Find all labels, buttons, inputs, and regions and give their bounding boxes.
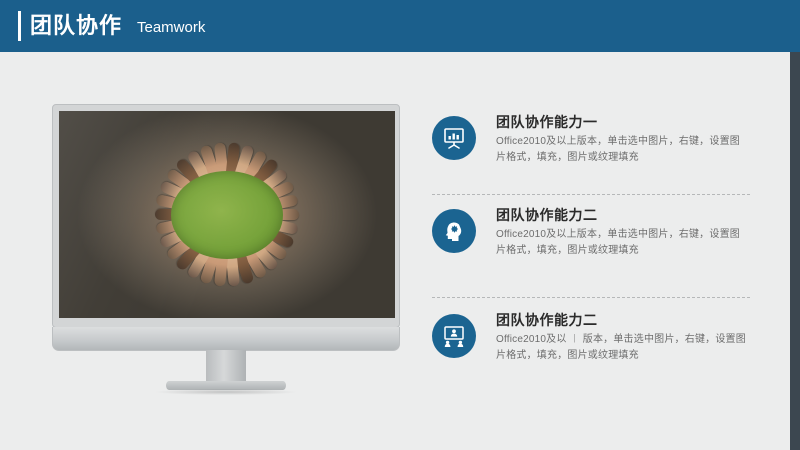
- feature-title: 团队协作能力二: [496, 205, 598, 225]
- people-presenter-icon: [432, 314, 476, 358]
- monitor-screen: [59, 111, 395, 318]
- feature-list: 团队协作能力一 Office2010及以上版本，单击选中图片，右键，设置图片格式…: [432, 110, 762, 390]
- feature-title: 团队协作能力一: [496, 112, 598, 132]
- monitor-shadow: [156, 389, 296, 395]
- page-title-en: Teamwork: [137, 18, 205, 38]
- feature-item-3[interactable]: 团队协作能力二 Office2010及以 ︱ 版本，单击选中图片，右键，设置图片…: [432, 298, 762, 390]
- header-accent-bar: [18, 11, 21, 41]
- page-title-cn: 团队协作: [30, 12, 122, 40]
- head-gear-brain-icon: [432, 209, 476, 253]
- right-edge-strip: [790, 52, 800, 450]
- team-hands-circle-photo: [59, 111, 395, 318]
- monitor-stand-neck: [206, 350, 246, 382]
- feature-body: Office2010及以上版本，单击选中图片，右键，设置图片格式，填充，图片或纹…: [496, 227, 746, 259]
- feature-title: 团队协作能力二: [496, 310, 598, 330]
- feature-body: Office2010及以上版本，单击选中图片，右键，设置图片格式，填充，图片或纹…: [496, 134, 746, 166]
- monitor-chin: [52, 327, 400, 351]
- grass-center: [171, 171, 283, 259]
- feature-item-2[interactable]: 团队协作能力二 Office2010及以上版本，单击选中图片，右键，设置图片格式…: [432, 195, 762, 287]
- feature-body: Office2010及以 ︱ 版本，单击选中图片，右键，设置图片格式，填充，图片…: [496, 332, 746, 364]
- monitor-bezel: [52, 104, 400, 328]
- feature-item-1[interactable]: 团队协作能力一 Office2010及以上版本，单击选中图片，右键，设置图片格式…: [432, 110, 762, 194]
- presentation-chart-icon: [432, 116, 476, 160]
- slide-header-bar: 团队协作 Teamwork: [0, 0, 800, 52]
